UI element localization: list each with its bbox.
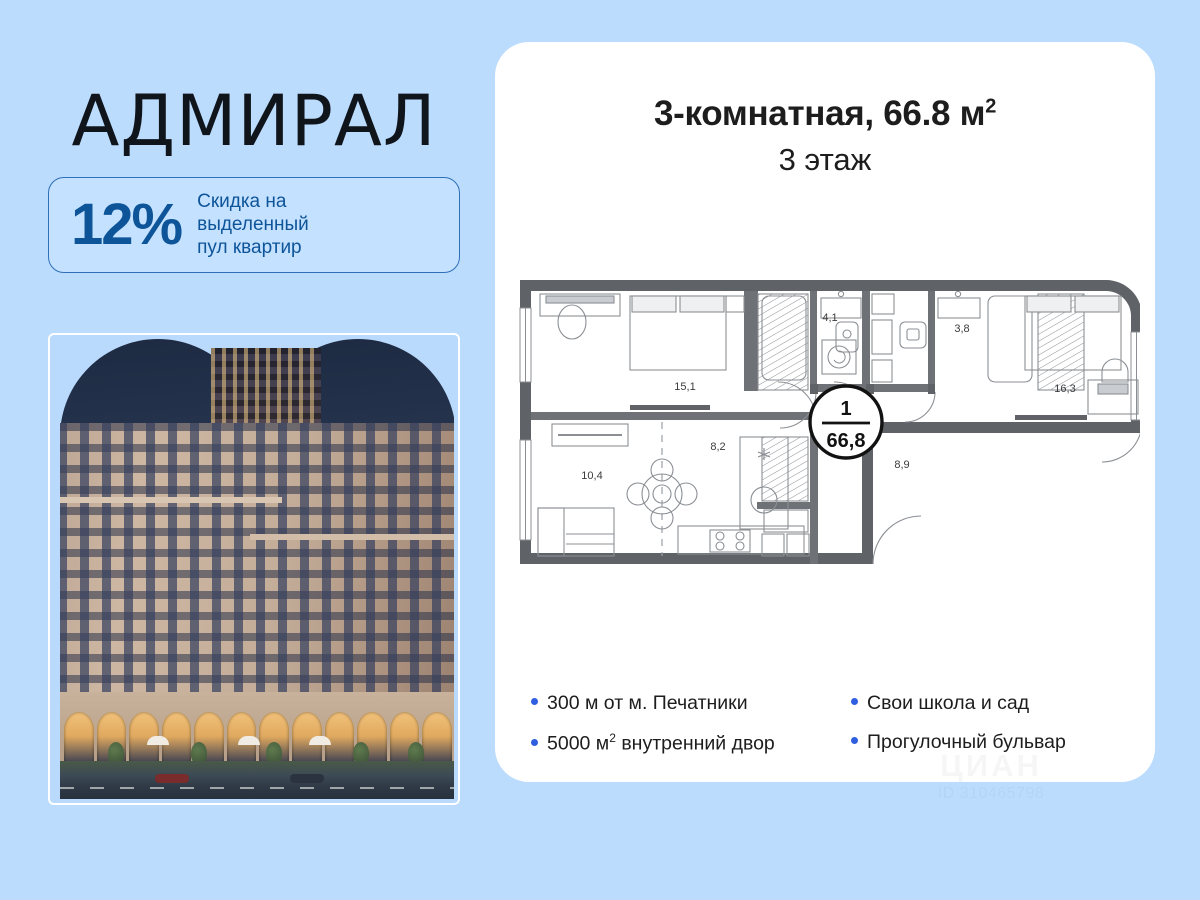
wc-fixtures bbox=[872, 294, 926, 382]
discount-line-3: пул квартир bbox=[197, 236, 309, 259]
discount-description: Скидка на выделенный пул квартир bbox=[197, 190, 309, 260]
room-area-hall: 8,9 bbox=[894, 459, 909, 471]
room-area-bedroom-2: 16,3 bbox=[1054, 383, 1075, 395]
building-photo-card bbox=[48, 333, 460, 805]
page-title: 3-комнатная, 66.8 м2 bbox=[495, 94, 1155, 134]
road-markings bbox=[60, 787, 454, 789]
room-area-kitchen: 8,2 bbox=[710, 441, 725, 453]
bullet-icon bbox=[851, 698, 858, 705]
feature-courtyard-label: 5000 м2 внутренний двор bbox=[547, 731, 775, 756]
feature-courtyard-sup: 2 bbox=[609, 731, 616, 745]
car-dark bbox=[290, 774, 324, 783]
watermark-id: ID 310465798 bbox=[876, 785, 1106, 803]
discount-badge: 12% Скидка на выделенный пул квартир bbox=[48, 177, 460, 273]
discount-line-1: Скидка на bbox=[197, 190, 309, 213]
features-list: 300 м от м. Печатники Свои школа и сад 5… bbox=[531, 692, 1131, 756]
arcade-bay bbox=[422, 712, 452, 765]
floorplan-drawing: 15,1 4,1 bbox=[510, 272, 1140, 582]
main-building-facade bbox=[60, 423, 454, 729]
window-right bbox=[1131, 332, 1140, 420]
advertisement-page: АДМИРАЛ 12% Скидка на выделенный пул ква… bbox=[0, 0, 1200, 900]
promo-panel: АДМИРАЛ 12% Скидка на выделенный пул ква… bbox=[48, 88, 460, 273]
listing-card: 3-комнатная, 66.8 м2 3 этаж bbox=[495, 42, 1155, 782]
room-area-bathroom-2: 3,8 bbox=[954, 323, 969, 335]
feature-school: Свои школа и сад bbox=[851, 692, 1131, 715]
feature-courtyard-value: 5000 м bbox=[547, 733, 609, 755]
room-area-living: 10,4 bbox=[581, 470, 602, 482]
street-tree bbox=[266, 742, 282, 764]
feature-metro-label: 300 м от м. Печатники bbox=[547, 692, 748, 715]
floor-label: 3 этаж bbox=[495, 142, 1155, 178]
bullet-icon bbox=[851, 737, 858, 744]
building-photo bbox=[54, 339, 454, 799]
discount-percent: 12% bbox=[71, 196, 181, 254]
bullet-icon bbox=[531, 739, 538, 746]
street-tree bbox=[108, 742, 124, 764]
room-area-bedroom-1: 15,1 bbox=[674, 381, 695, 393]
floorplan-container: 15,1 4,1 bbox=[495, 272, 1155, 592]
feature-boulevard-label: Прогулочный бульвар bbox=[867, 731, 1066, 754]
arcade-bay bbox=[64, 712, 94, 765]
roofline-right bbox=[250, 534, 454, 540]
utility-closet bbox=[762, 437, 809, 556]
bullet-icon bbox=[531, 698, 538, 705]
feature-courtyard: 5000 м2 внутренний двор bbox=[531, 731, 851, 756]
feature-courtyard-suffix: внутренний двор bbox=[616, 733, 775, 755]
feature-school-label: Свои школа и сад bbox=[867, 692, 1029, 715]
street-tree bbox=[408, 742, 424, 764]
street-ground bbox=[60, 761, 454, 799]
badge-area-value: 66,8 bbox=[827, 430, 866, 452]
street-tree bbox=[191, 742, 207, 764]
twin-arch-mask bbox=[60, 339, 454, 799]
street-tree bbox=[353, 742, 369, 764]
feature-boulevard: Прогулочный бульвар bbox=[851, 731, 1131, 756]
page-title-text: 3-комнатная, 66.8 м bbox=[654, 94, 985, 133]
room-area-bathroom-1: 4,1 bbox=[822, 312, 837, 324]
roofline-left bbox=[60, 497, 282, 503]
feature-metro: 300 м от м. Печатники bbox=[531, 692, 851, 715]
cafe-umbrella bbox=[238, 736, 260, 745]
discount-line-2: выделенный bbox=[197, 213, 309, 236]
room-living bbox=[538, 422, 662, 556]
car-red bbox=[155, 774, 189, 783]
brand-logo: АДМИРАЛ bbox=[48, 88, 460, 155]
area-badge: 1 66,8 bbox=[810, 386, 882, 458]
cafe-umbrella bbox=[147, 736, 169, 745]
badge-room-count: 1 bbox=[840, 398, 851, 420]
title-superscript: 2 bbox=[985, 95, 996, 117]
